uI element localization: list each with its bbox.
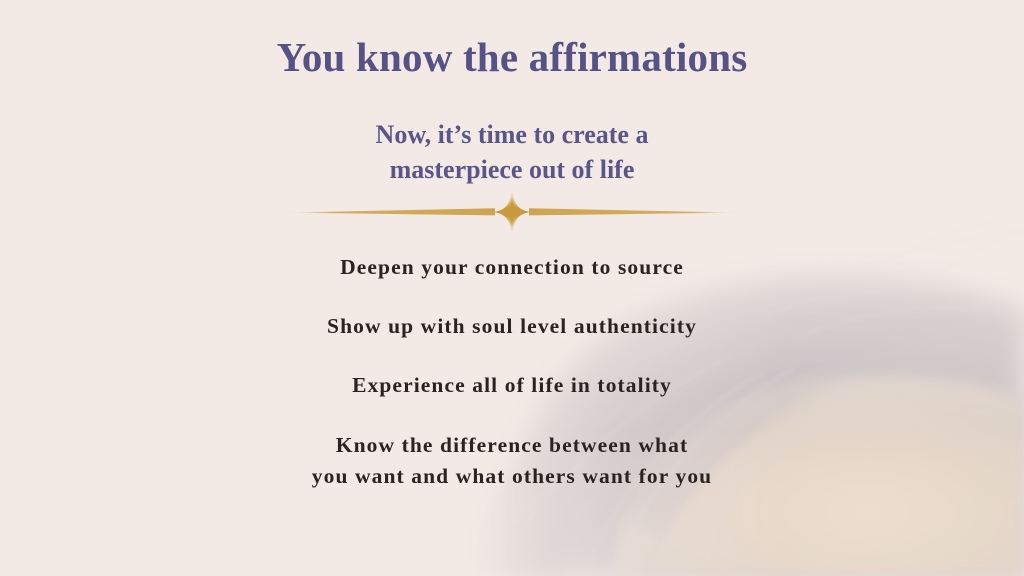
list-item: Experience all of life in totality: [0, 370, 1024, 401]
list-item: Show up with soul level authenticity: [0, 311, 1024, 342]
page-title: You know the affirmations: [0, 33, 1024, 81]
list-item-line: Deepen your connection to source: [340, 255, 684, 279]
gold-divider: [287, 190, 737, 234]
subtitle-line-1: Now, it’s time to create a: [0, 117, 1024, 152]
slide-subtitle: Now, it’s time to create a masterpiece o…: [0, 117, 1024, 187]
list-item: Know the difference between what you wan…: [0, 430, 1024, 492]
slide-content: You know the affirmations Now, it’s time…: [0, 0, 1024, 576]
four-point-star-icon: [494, 191, 530, 233]
list-item-line: Show up with soul level authenticity: [327, 314, 697, 338]
subtitle-line-2: masterpiece out of life: [0, 152, 1024, 187]
affirmation-list: Deepen your connection to source Show up…: [0, 252, 1024, 492]
list-item-line: Experience all of life in totality: [352, 373, 672, 397]
list-item: Deepen your connection to source: [0, 252, 1024, 283]
list-item-line: Know the difference between what: [336, 433, 688, 457]
list-item-line: you want and what others want for you: [312, 464, 712, 488]
